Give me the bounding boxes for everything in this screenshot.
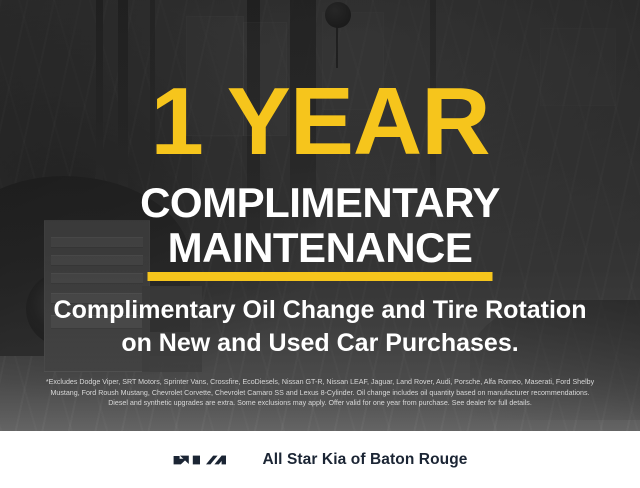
yellow-divider-bar <box>148 272 493 281</box>
kia-logo <box>172 450 244 470</box>
disclaimer-line-3: Diesel and synthetic upgrades are extra.… <box>14 398 626 409</box>
disclaimer-line-1: *Excludes Dodge Viper, SRT Motors, Sprin… <box>14 377 626 388</box>
ad-copy: 1 YEAR COMPLIMENTARY MAINTENANCE Complim… <box>0 0 640 431</box>
dealer-branding[interactable]: All Star Kia of Baton Rouge <box>172 450 467 470</box>
headline-offer-name: COMPLIMENTARY MAINTENANCE <box>0 180 640 270</box>
headline-year: 1 YEAR <box>0 74 640 170</box>
offer-description: Complimentary Oil Change and Tire Rotati… <box>0 294 640 360</box>
dealer-footer: All Star Kia of Baton Rouge <box>0 431 640 488</box>
dealer-name: All Star Kia of Baton Rouge <box>262 451 467 469</box>
headline-line-2: MAINTENANCE <box>0 225 640 270</box>
advertisement-banner[interactable]: 1 YEAR COMPLIMENTARY MAINTENANCE Complim… <box>0 0 640 488</box>
headline-line-1: COMPLIMENTARY <box>0 180 640 225</box>
disclaimer-line-2: Mustang, Ford Roush Mustang, Chevrolet C… <box>14 388 626 399</box>
disclaimer-text: *Excludes Dodge Viper, SRT Motors, Sprin… <box>14 377 626 409</box>
hero-photo-area: 1 YEAR COMPLIMENTARY MAINTENANCE Complim… <box>0 0 640 431</box>
offer-line-2: on New and Used Car Purchases. <box>0 327 640 360</box>
offer-line-1: Complimentary Oil Change and Tire Rotati… <box>0 294 640 327</box>
